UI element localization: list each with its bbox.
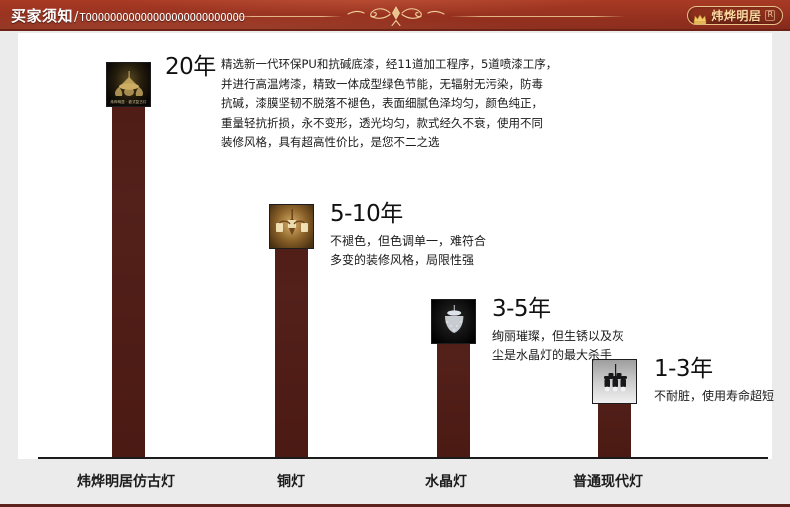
- brand-badge[interactable]: 炜烨明居 R: [687, 6, 783, 25]
- page-header: 买家须知 / TOOOOOOOOOOOOOOOOOOOOOOOOOO: [0, 0, 790, 31]
- desc-line: 多变的装修风格，局限性强: [330, 251, 580, 270]
- desc-line: 绚丽璀璨，但生锈以及灰: [492, 327, 742, 346]
- annotation-desc-0: 精选新一代环保PU和抗碱底漆，经11道加工程序，5道喷漆工序， 并进行高温烤漆，…: [221, 55, 566, 153]
- filigree-ornament-icon: [340, 3, 452, 28]
- year-label-1: 5-10年: [330, 203, 580, 226]
- registered-mark: R: [765, 10, 775, 21]
- header-title-code: TOOOOOOOOOOOOOOOOOOOOOOOOOO: [79, 12, 244, 24]
- bar-group-0: 炜烨明居 · 欧式复古灯: [112, 33, 145, 457]
- header-title: 买家须知 / TOOOOOOOOOOOOOOOOOOOOOOOOOO: [11, 5, 245, 26]
- x-label-1: 铜灯: [277, 471, 305, 491]
- buyer-notice-page: 买家须知 / TOOOOOOOOOOOOOOOOOOOOOOOOOO: [0, 0, 790, 507]
- thumb-caption: 炜烨明居 · 欧式复古灯: [107, 99, 150, 104]
- year-label-2: 3-5年: [492, 298, 742, 321]
- x-label-3: 普通现代灯: [573, 471, 643, 491]
- desc-line: 抗碱，漆膜坚韧不脱落不褪色，表面细腻色泽均匀，颜色纯正，: [221, 94, 566, 114]
- crown-icon: [693, 10, 707, 22]
- header-divider-right: [450, 16, 625, 17]
- chart-plot-area: 炜烨明居 · 欧式复古灯: [18, 33, 772, 457]
- comparison-chart: 炜烨明居 · 欧式复古灯: [18, 33, 772, 473]
- annotation-3: 1-3年 不耐脏，使用寿命超短: [654, 358, 790, 406]
- header-title-separator: /: [74, 10, 78, 25]
- brand-name: 炜烨明居: [711, 10, 761, 22]
- chart-x-labels: 炜烨明居仿古灯 铜灯 水晶灯 普通现代灯: [18, 459, 772, 499]
- annotation-1: 5-10年 不褪色，但色调单一，难符合 多变的装修风格，局限性强: [330, 203, 580, 271]
- desc-line: 重量轻抗折损，永不变形，透光均匀，款式经久不衰，使用不同: [221, 114, 566, 134]
- brass-chandelier-photo: [269, 204, 314, 249]
- x-label-0: 炜烨明居仿古灯: [77, 471, 175, 491]
- year-label-3: 1-3年: [654, 358, 790, 381]
- desc-line: 不褪色，但色调单一，难符合: [330, 232, 580, 251]
- antique-chandelier-photo: 炜烨明居 · 欧式复古灯: [106, 62, 151, 107]
- desc-line: 不耐脏，使用寿命超短: [654, 387, 790, 406]
- crystal-chandelier-photo: [431, 299, 476, 344]
- desc-line: 并进行高温烤漆，精致一体成型绿色节能，无辐射无污染，防毒: [221, 75, 566, 95]
- header-divider-left: [232, 16, 342, 17]
- desc-line: 装修风格，具有超高性价比，是您不二之选: [221, 133, 566, 153]
- bar-group-3: [598, 33, 631, 457]
- header-title-cn: 买家须知: [11, 5, 73, 26]
- bar-0[interactable]: [112, 62, 145, 457]
- desc-line: 精选新一代环保PU和抗碱底漆，经11道加工程序，5道喷漆工序，: [221, 55, 566, 75]
- x-label-2: 水晶灯: [425, 471, 467, 491]
